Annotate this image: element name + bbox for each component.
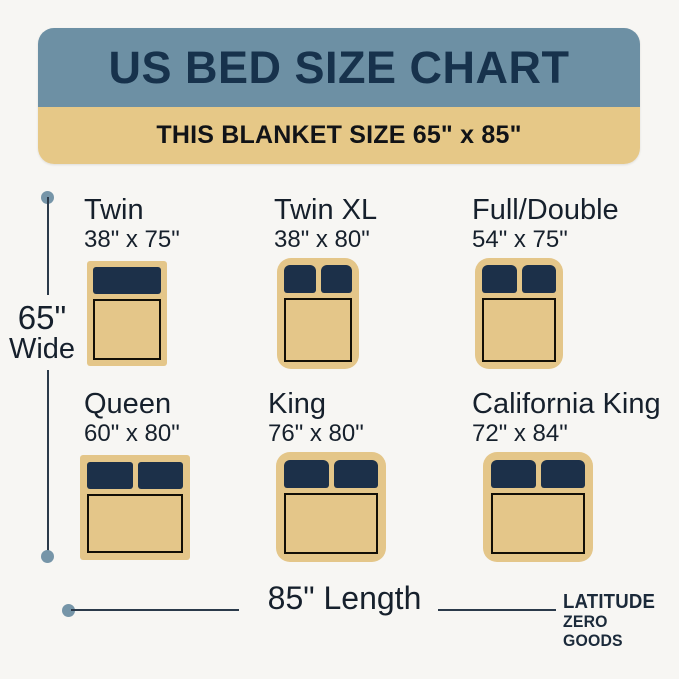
pillow xyxy=(284,265,316,293)
bed-name: Full/Double xyxy=(472,196,619,225)
mattress xyxy=(87,494,183,553)
pillow-group xyxy=(93,267,161,294)
bed-dims: 54" x 75" xyxy=(472,228,568,252)
pillow xyxy=(491,460,536,488)
bed-illustration-queen xyxy=(80,455,190,560)
pillow xyxy=(87,462,133,489)
bed-dims: 76" x 80" xyxy=(268,422,364,446)
pillow xyxy=(321,265,353,293)
mattress xyxy=(284,493,378,554)
bed-illustration-king xyxy=(276,452,386,562)
bed-size-chart-infographic: US BED SIZE CHART THIS BLANKET SIZE 65" … xyxy=(0,0,679,679)
pillow-group xyxy=(482,265,556,293)
bed-illustration-full-double xyxy=(475,258,563,369)
mattress xyxy=(93,299,161,360)
pillow xyxy=(522,265,557,293)
bed-name: King xyxy=(268,390,326,419)
mattress xyxy=(491,493,585,554)
mattress xyxy=(482,298,556,362)
bed-illustration-twin-xl xyxy=(277,258,359,369)
bed-dims: 60" x 80" xyxy=(84,422,180,446)
bed-grid: Twin 38" x 75" Twin XL 38" x 80" xyxy=(0,0,679,679)
bed-illustration-twin xyxy=(87,261,167,366)
pillow xyxy=(138,462,184,489)
bed-name: Queen xyxy=(84,390,171,419)
bed-name: Twin xyxy=(84,196,144,225)
bed-name: California King xyxy=(472,390,661,419)
pillow xyxy=(541,460,586,488)
bed-dims: 38" x 75" xyxy=(84,228,180,252)
mattress xyxy=(284,298,352,362)
pillow-group xyxy=(284,460,378,488)
bed-illustration-california-king xyxy=(483,452,593,562)
pillow-group xyxy=(284,265,352,293)
bed-name: Twin XL xyxy=(274,196,377,225)
bed-dims: 38" x 80" xyxy=(274,228,370,252)
pillow xyxy=(482,265,517,293)
bed-dims: 72" x 84" xyxy=(472,422,568,446)
pillow xyxy=(93,267,161,294)
pillow xyxy=(284,460,329,488)
pillow-group xyxy=(87,462,183,489)
pillow-group xyxy=(491,460,585,488)
pillow xyxy=(334,460,379,488)
